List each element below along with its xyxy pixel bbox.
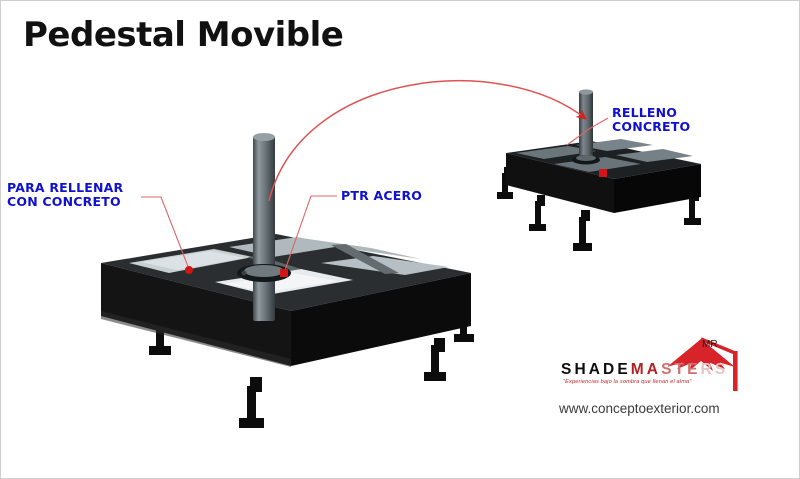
post-top-cap-left [253, 133, 275, 141]
wordmark-part-3: STE [661, 361, 700, 378]
post-base-collar [244, 265, 284, 277]
ptr-steel-post-left [253, 136, 275, 321]
marker-para-rellenar [185, 266, 193, 274]
callout-para-rellenar-con-concreto: PARA RELLENAR CON CONCRETO [7, 181, 123, 209]
wordmark-part-2: MA [631, 361, 661, 378]
brand-wordmark: SHADEMASTERS [561, 361, 728, 379]
callout-relleno-concreto: RELLENO CONCRETO [612, 106, 690, 134]
trademark-mark: MR [702, 339, 718, 350]
brand-website-url: www.conceptoexterior.com [559, 401, 720, 416]
ptr-steel-post-right [579, 91, 593, 159]
marker-relleno-concreto [599, 169, 607, 177]
base-bolt-left [242, 271, 247, 276]
brand-logo: MR SHADEMASTERS "Experiencias bajo la so… [549, 335, 749, 431]
post-collar-right-2 [576, 155, 596, 161]
marker-ptr-acero [280, 269, 288, 277]
callout-ptr-acero: PTR ACERO [341, 189, 422, 203]
post-top-cap-right [579, 89, 593, 94]
figure-pedestal-open [101, 133, 474, 428]
brand-tagline: "Experiencias bajo la sombra que llenan … [563, 379, 691, 385]
wordmark-part-1: SHADE [561, 361, 631, 378]
diagram-canvas: Pedestal Movible [0, 0, 800, 479]
wordmark-part-4: RS [701, 361, 729, 378]
